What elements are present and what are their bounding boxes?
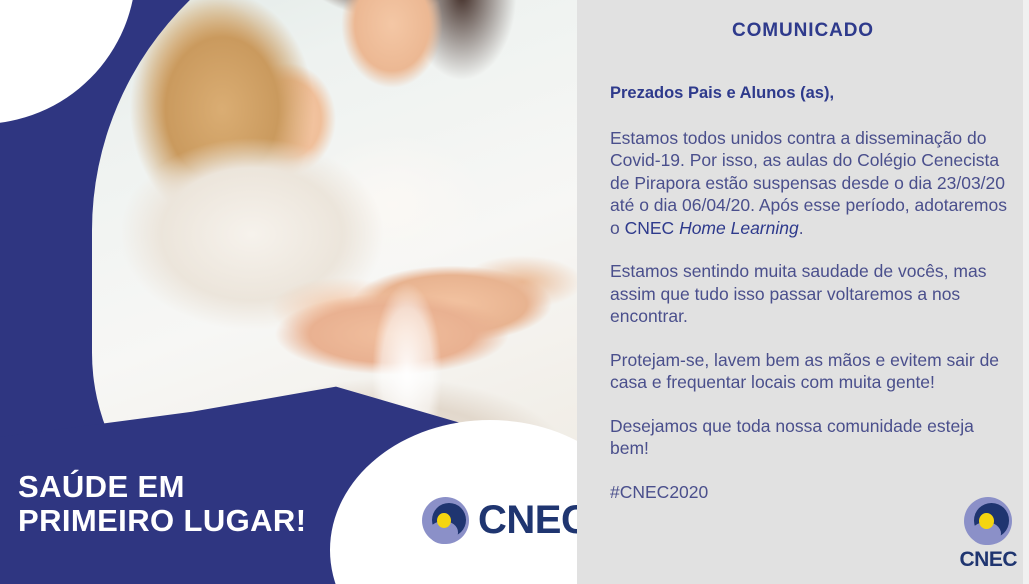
- paragraph-1-cnec-accent: CNEC: [625, 218, 679, 238]
- message-body: Prezados Pais e Alunos (as), Estamos tod…: [610, 82, 1008, 503]
- right-message-panel: COMUNICADO Prezados Pais e Alunos (as), …: [577, 0, 1029, 584]
- paragraph-1-home-learning-accent: Home Learning: [679, 218, 799, 238]
- paragraph-1: Estamos todos unidos contra a disseminaç…: [610, 127, 1008, 240]
- cnec-logo-left: CNEC: [422, 497, 577, 544]
- right-edge-strip: [1023, 0, 1029, 584]
- paragraph-2: Estamos sentindo muita saudade de vocês,…: [610, 260, 1008, 328]
- cnec-logo-right: CNEC: [959, 497, 1017, 572]
- left-photo-panel: SAÚDE EM PRIMEIRO LUGAR! CNEC: [0, 0, 577, 584]
- page-title: COMUNICADO: [577, 20, 1029, 42]
- cnec-wordmark-left: CNEC: [478, 498, 577, 543]
- communique-poster: SAÚDE EM PRIMEIRO LUGAR! CNEC COMUNICADO…: [0, 0, 1029, 584]
- hashtag: #CNEC2020: [610, 481, 1008, 504]
- paragraph-1-period: .: [799, 218, 804, 238]
- paragraph-4: Desejamos que toda nossa comunidade este…: [610, 415, 1008, 460]
- headline: SAÚDE EM PRIMEIRO LUGAR!: [18, 470, 438, 538]
- salutation: Prezados Pais e Alunos (as),: [610, 82, 1008, 105]
- cnec-logo-mark-icon: [422, 497, 469, 544]
- headline-line-1: SAÚDE EM: [18, 469, 185, 504]
- headline-line-2: PRIMEIRO LUGAR!: [18, 504, 438, 538]
- cnec-logo-mark-icon: [964, 497, 1012, 545]
- paragraph-3: Protejam-se, lavem bem as mãos e evitem …: [610, 349, 1008, 394]
- cnec-wordmark-right: CNEC: [959, 548, 1017, 572]
- logo-yellow-dot: [979, 513, 994, 529]
